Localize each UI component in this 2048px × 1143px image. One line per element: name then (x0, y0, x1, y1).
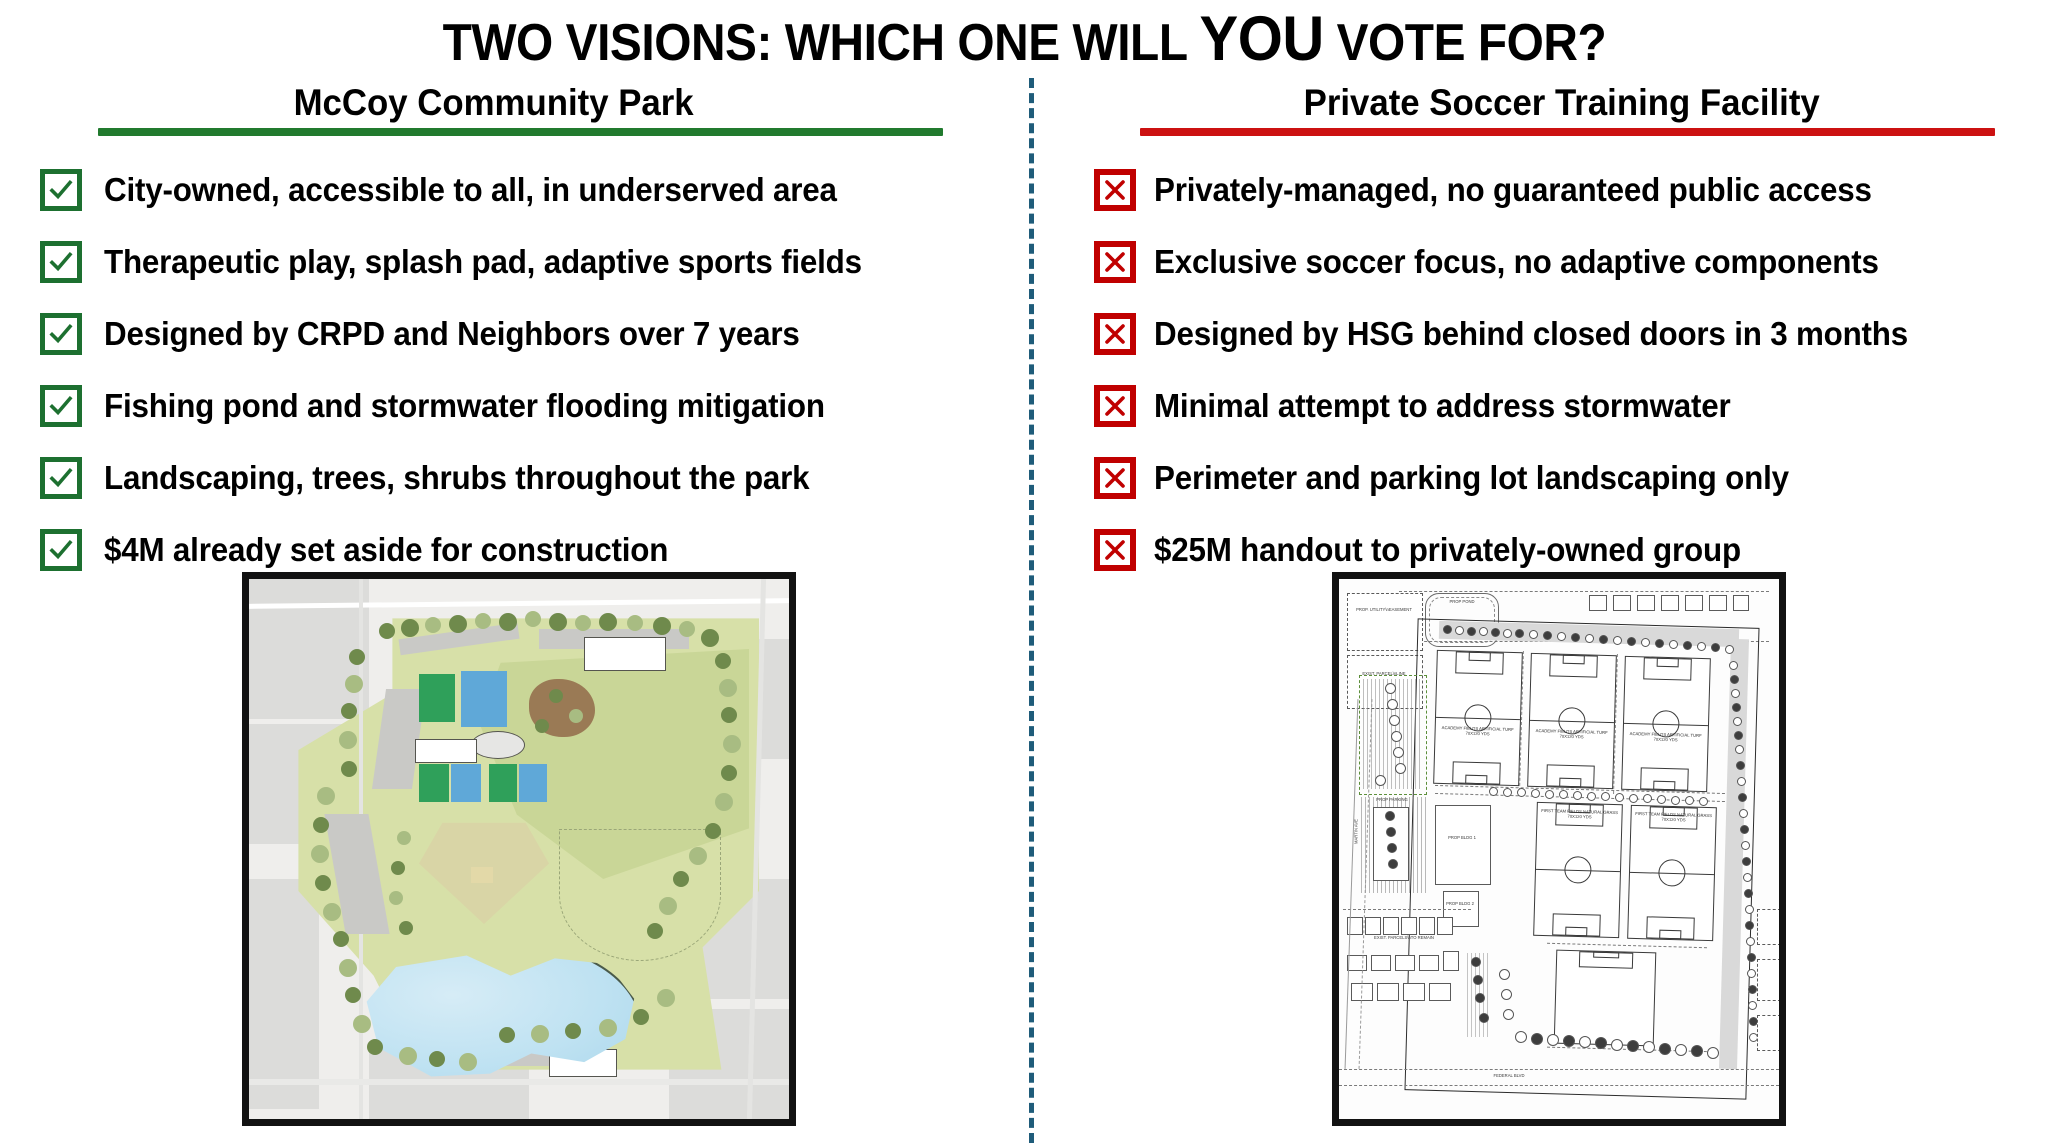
list-item-label: $25M handout to privately-owned group (1154, 531, 1741, 569)
check-box-icon (40, 169, 82, 211)
list-item-label: Designed by CRPD and Neighbors over 7 ye… (104, 315, 800, 353)
check-box-icon (40, 241, 82, 283)
x-box-icon (1094, 385, 1136, 427)
list-item-label: Fishing pond and stormwater flooding mit… (104, 387, 825, 425)
field-label: ACADEMY FIELDS ARTIFICIAL TURF 70X120 YD… (1436, 725, 1520, 738)
field-label: ACADEMY FIELDS ARTIFICIAL TURF 70X120 YD… (1530, 728, 1614, 741)
check-box-icon (40, 385, 82, 427)
field-label: FIRST TEAM FIELDS NATURAL GRASS 70X120 Y… (1537, 808, 1621, 821)
list-item-label: Privately-managed, no guaranteed public … (1154, 171, 1872, 209)
title-part-2: VOTE FOR? (1323, 14, 1605, 72)
right-column: Private Soccer Training Facility Private… (1082, 82, 2032, 586)
x-box-icon (1094, 529, 1136, 571)
list-item: Designed by CRPD and Neighbors over 7 ye… (28, 298, 978, 370)
cad-label-bldg1: PROP BLDG 1 (1437, 835, 1487, 840)
soccer-field (1554, 950, 1657, 1047)
check-box-icon (40, 529, 82, 571)
list-item: Fishing pond and stormwater flooding mit… (28, 370, 978, 442)
check-box-icon (40, 457, 82, 499)
list-item: Perimeter and parking lot landscaping on… (1082, 442, 2032, 514)
list-item-label: Perimeter and parking lot landscaping on… (1154, 459, 1789, 497)
list-item: Therapeutic play, splash pad, adaptive s… (28, 226, 978, 298)
x-box-icon (1094, 241, 1136, 283)
soccer-field: ACADEMY FIELDS ARTIFICIAL TURF 70X120 YD… (1433, 650, 1523, 786)
x-box-icon (1094, 457, 1136, 499)
field-label: FIRST TEAM FIELDS NATURAL GRASS 70X120 Y… (1631, 811, 1715, 824)
left-checklist: City-owned, accessible to all, in unders… (28, 154, 978, 586)
x-box-icon (1094, 313, 1136, 355)
left-heading-underline (98, 128, 943, 136)
title-emphasis-you: YOU (1199, 4, 1323, 74)
soccer-field: FIRST TEAM FIELDS NATURAL GRASS 70X120 Y… (1627, 805, 1717, 941)
soccer-field: FIRST TEAM FIELDS NATURAL GRASS 70X120 Y… (1533, 802, 1623, 938)
list-item-label: Minimal attempt to address stormwater (1154, 387, 1731, 425)
soccer-field: ACADEMY FIELDS ARTIFICIAL TURF 70X120 YD… (1621, 656, 1711, 792)
list-item: Landscaping, trees, shrubs throughout th… (28, 442, 978, 514)
x-box-icon (1094, 169, 1136, 211)
page-title: TWO VISIONS: WHICH ONE WILL YOU VOTE FOR… (0, 0, 2048, 78)
list-item-label: Designed by HSG behind closed doors in 3… (1154, 315, 1908, 353)
right-checklist: Privately-managed, no guaranteed public … (1082, 154, 2032, 586)
list-item-label: Therapeutic play, splash pad, adaptive s… (104, 243, 862, 281)
list-item-label: Landscaping, trees, shrubs throughout th… (104, 459, 809, 497)
field-label: ACADEMY FIELDS ARTIFICIAL TURF 70X120 YD… (1624, 731, 1708, 744)
cad-label-bldg2: PROP BLDG 2 (1443, 901, 1477, 906)
list-item: City-owned, accessible to all, in unders… (28, 154, 978, 226)
right-column-heading: Private Soccer Training Facility (1111, 82, 2004, 124)
soccer-field: ACADEMY FIELDS ARTIFICIAL TURF 70X120 YD… (1527, 653, 1617, 789)
title-part-1: TWO VISIONS: WHICH ONE WILL (442, 14, 1199, 72)
cad-label-pond: PROP POND (1435, 599, 1489, 604)
list-item: Exclusive soccer focus, no adaptive comp… (1082, 226, 2032, 298)
check-box-icon (40, 313, 82, 355)
left-column: McCoy Community Park City-owned, accessi… (28, 82, 978, 586)
proposed-building-1 (1435, 805, 1491, 885)
column-divider (1029, 78, 1034, 1143)
list-item-label: $4M already set aside for construction (104, 531, 668, 569)
park-site-plan-image (242, 572, 796, 1126)
list-item: Privately-managed, no guaranteed public … (1082, 154, 2032, 226)
list-item: Designed by HSG behind closed doors in 3… (1082, 298, 2032, 370)
soccer-facility-site-plan-image: TRACTED ROAD PROP. UTILITY\nEASEMENT EXI… (1332, 572, 1786, 1126)
list-item: Minimal attempt to address stormwater (1082, 370, 2032, 442)
right-heading-underline (1140, 128, 1995, 136)
list-item-label: Exclusive soccer focus, no adaptive comp… (1154, 243, 1879, 281)
list-item-label: City-owned, accessible to all, in unders… (104, 171, 837, 209)
left-column-heading: McCoy Community Park (57, 82, 950, 124)
